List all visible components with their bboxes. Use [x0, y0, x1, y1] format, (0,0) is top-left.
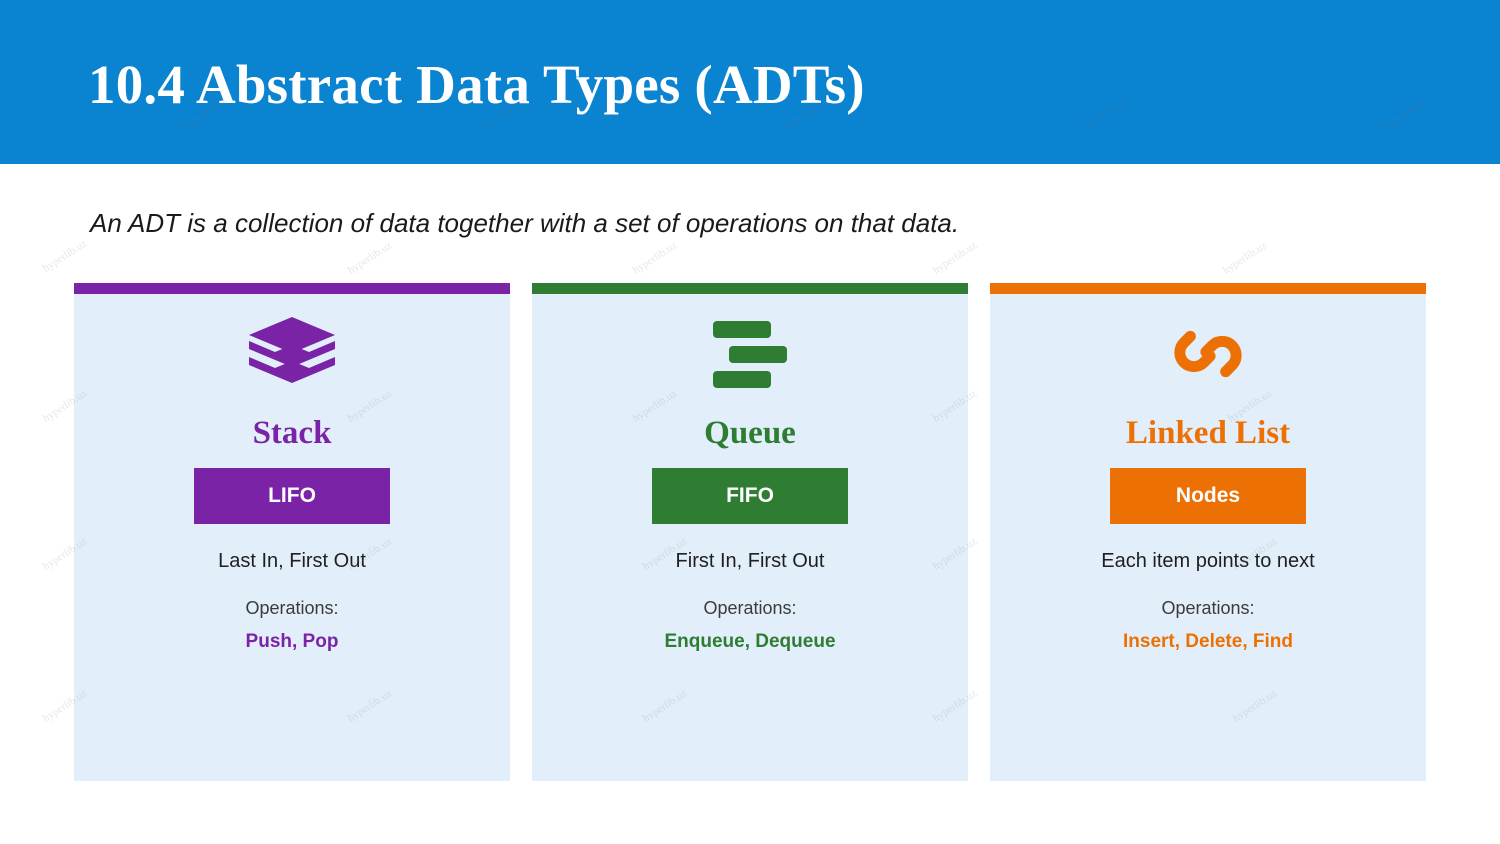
watermark-text: hyperlib.uz [41, 237, 89, 274]
card-accent-bar [532, 283, 968, 294]
slide-subtitle: An ADT is a collection of data together … [90, 208, 959, 239]
card-operations-value: Push, Pop [246, 631, 339, 653]
card-accent-bar [74, 283, 510, 294]
adt-card-stack[interactable]: Stack LIFO Last In, First Out Operations… [74, 283, 510, 781]
slide-header-banner: 10.4 Abstract Data Types (ADTs) [0, 0, 1500, 164]
card-operations-label: Operations: [245, 598, 338, 619]
watermark-text: hyperlib.uz [346, 239, 394, 276]
card-operations-value: Enqueue, Dequeue [664, 631, 835, 653]
card-description: Each item points to next [1101, 550, 1314, 573]
card-accent-bar [990, 283, 1426, 294]
card-heading: Linked List [1126, 415, 1290, 451]
adt-card-queue[interactable]: Queue FIFO First In, First Out Operation… [532, 283, 968, 781]
card-operations-label: Operations: [703, 598, 796, 619]
watermark-text: hyperlib.uz [1221, 239, 1269, 276]
adt-card-deck: Stack LIFO Last In, First Out Operations… [74, 283, 1426, 781]
card-badge[interactable]: LIFO [194, 468, 390, 524]
card-heading: Stack [253, 415, 332, 451]
page-title: 10.4 Abstract Data Types (ADTs) [88, 52, 865, 118]
card-heading: Queue [704, 415, 796, 451]
card-badge[interactable]: FIFO [652, 468, 848, 524]
adt-card-linked-list[interactable]: Linked List Nodes Each item points to ne… [990, 283, 1426, 781]
watermark-text: hyperlib.uz [631, 239, 679, 276]
card-badge[interactable]: Nodes [1110, 468, 1306, 524]
card-description: First In, First Out [676, 550, 825, 573]
queue-bars-icon [705, 315, 795, 393]
card-description: Last In, First Out [218, 550, 366, 573]
card-operations-value: Insert, Delete, Find [1123, 631, 1293, 653]
chain-link-icon [1163, 315, 1253, 393]
card-operations-label: Operations: [1161, 598, 1254, 619]
watermark-text: hyperlib.uz [931, 239, 979, 276]
stack-layers-icon [247, 315, 337, 393]
